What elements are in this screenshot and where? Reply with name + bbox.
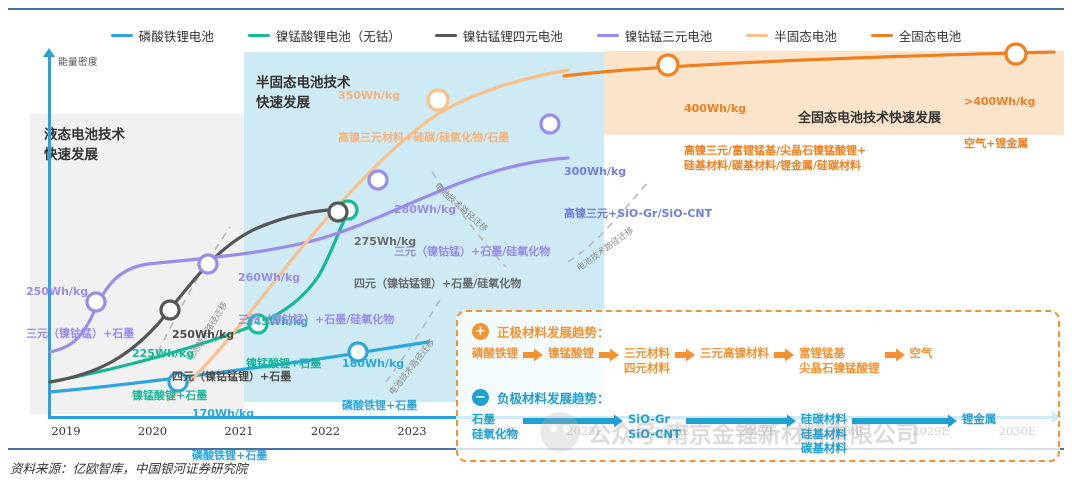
arrow-right-icon [523,347,543,366]
anode-chain: 石墨 硅氧化物SiO-Gr SiO-CNT硅碳材料 硅基材料 碳基材料锂金属 [472,412,1048,456]
legend-item-1[interactable]: 镍锰酸锂电池（无钴） [248,26,401,45]
label-280-material: 三元（镍钴锰）+石墨/硅氧化物 [394,245,550,259]
cathode-title: 正极材料发展趋势： [497,322,610,341]
label-180-material: 磷酸铁锂+石墨 [342,399,417,413]
chart-legend: 磷酸铁锂电池镍锰酸锂电池（无钴）镍钴锰锂四元电池镍钴锰三元电池半固态电池全固态电… [0,24,1072,46]
arrow-right-icon [885,347,905,366]
chain-item: 硅碳材料 硅基材料 碳基材料 [801,412,847,456]
legend-swatch-icon [435,34,457,37]
legend-item-5[interactable]: 全固态电池 [871,26,962,45]
legend-label: 镍锰酸锂电池（无钴） [276,26,401,45]
source-note: 资料来源：亿欧智库，中国银河证券研究院 [10,458,248,477]
label-400-material: 高镍三元/富锂锰基/尖晶石镍锰酸锂+ 硅基材料/碳基材料/锂金属/硅碳材料 [684,144,866,173]
label-250q-material: 四元（镍钴锰锂）+石墨 [172,370,291,384]
legend-swatch-icon [871,34,893,37]
legend-swatch-icon [746,34,768,37]
legend-swatch-icon [248,34,270,37]
legend-label: 半固态电池 [774,26,837,45]
label-280-value: 280Wh/kg [394,203,550,217]
arrow-right-icon [599,347,619,366]
legend-label: 磷酸铁锂电池 [139,26,214,45]
x-tick-2019: 2019 [51,424,80,438]
chain-item: 富锂锰基 尖晶石镍锰酸锂 [799,346,880,375]
arrow-right-icon [523,413,623,432]
label-400p-value: >400Wh/kg [964,95,1035,109]
legend-swatch-icon [597,34,619,37]
label-400-plus: >400Wh/kg 空气+锂金属 [964,66,1035,180]
chain-item: 锂金属 [962,412,997,427]
legend-item-4[interactable]: 半固态电池 [746,26,837,45]
minus-icon: − [472,389,489,406]
legend-item-2[interactable]: 镍钴锰锂四元电池 [435,26,563,45]
cathode-header: + 正极材料发展趋势： [472,322,610,341]
legend-item-0[interactable]: 磷酸铁锂电池 [111,26,214,45]
point-400-plus [1006,44,1026,64]
point-400 [658,55,678,75]
legend-label: 全固态电池 [899,26,962,45]
legend-item-3[interactable]: 镍钴锰三元电池 [597,26,713,45]
plot-area: 液态电池技术 快速发展 半固态电池技术 快速发展 全固态电池技术快速发展 能量密… [8,52,1064,420]
arrow-right-icon [774,347,794,366]
point-260 [199,255,217,273]
point-275 [329,203,347,221]
label-400p-material: 空气+锂金属 [964,137,1035,151]
legend-swatch-icon [111,34,133,37]
label-260-material: 三元（镍钴锰）+石墨/硅氧化物 [238,313,394,327]
label-250t-value: 250Wh/kg [26,285,134,299]
label-350: 350Wh/kg 高镍三元材料+硅碳/硅氧化物/石墨 [338,60,509,174]
chain-item: 石墨 硅氧化物 [472,412,518,441]
chain-item: 磷酸铁锂 [472,346,518,361]
chain-item: SiO-Gr SiO-CNT [628,412,681,441]
x-tick-2022: 2022 [311,424,340,438]
label-400: 400Wh/kg 高镍三元/富锂锰基/尖晶石镍锰酸锂+ 硅基材料/碳基材料/锂金… [684,73,866,202]
plus-icon: + [472,323,489,340]
cathode-chain: 磷酸铁锂镍锰酸锂三元材料 四元材料三元高镍材料富锂锰基 尖晶石镍锰酸锂空气 [472,346,1048,375]
arrow-right-icon [675,347,695,366]
label-260-value: 260Wh/kg [238,271,394,285]
label-260: 260Wh/kg 三元（镍钴锰）+石墨/硅氧化物 [238,242,394,356]
legend-label: 镍钴锰三元电池 [625,26,713,45]
label-280: 280Wh/kg 三元（镍钴锰）+石墨/硅氧化物 [394,174,550,288]
anode-header: − 负极材料发展趋势： [472,388,610,407]
label-250t-material: 三元（镍钴锰）+石墨 [26,327,134,341]
arrow-right-icon [686,413,796,432]
label-180-value: 180Wh/kg [342,357,417,371]
label-250-ternary: 250Wh/kg 三元（镍钴锰）+石墨 [26,256,134,370]
point-300 [541,115,559,133]
label-350-value: 350Wh/kg [338,89,509,103]
anode-title: 负极材料发展趋势： [497,388,610,407]
chain-item: 三元高镍材料 [700,346,769,361]
chain-item: 三元材料 四元材料 [624,346,670,375]
legend-label: 镍钴锰锂四元电池 [463,26,563,45]
chain-item: 空气 [910,346,933,361]
chain-item: 镍锰酸锂 [548,346,594,361]
arrow-right-icon [852,413,957,432]
label-300-material: 高镍三元+SiO-Gr/SiO-CNT [564,207,712,221]
top-divider [8,8,1064,10]
chart-root: 磷酸铁锂电池镍锰酸锂电池（无钴）镍钴锰锂四元电池镍钴锰三元电池半固态电池全固态电… [0,0,1072,484]
label-350-material: 高镍三元材料+硅碳/硅氧化物/石墨 [338,131,509,145]
label-400-value: 400Wh/kg [684,102,866,116]
material-trend-box: + 正极材料发展趋势： 磷酸铁锂镍锰酸锂三元材料 四元材料三元高镍材料富锂锰基 … [456,310,1060,462]
